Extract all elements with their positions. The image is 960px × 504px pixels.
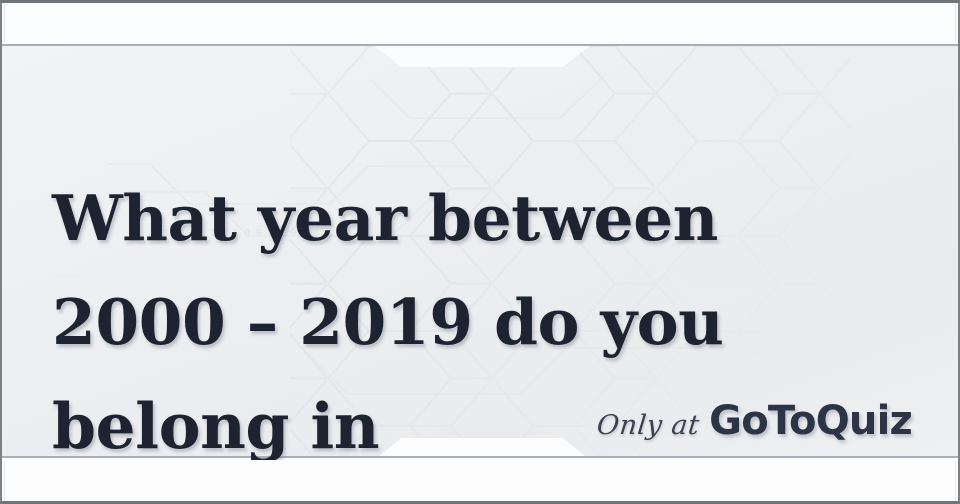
top-trapezoid-notch (373, 46, 591, 67)
quiz-title-banner: 010011010011010 0100011010011110100 What… (0, 46, 960, 460)
site-branding[interactable]: Only at GoToQuiz (597, 398, 912, 444)
bottom-white-bar (0, 456, 960, 504)
top-white-bar (0, 2, 960, 46)
only-at-label: Only at (595, 410, 701, 441)
gotoquiz-logo-text[interactable]: GoToQuiz (709, 398, 912, 444)
top-white-bar-inner (4, 4, 956, 42)
quiz-banner-page: 010011010011010 0100011010011110100 What… (0, 0, 960, 504)
bottom-white-bar-inner (4, 461, 956, 501)
quiz-title-line-2: 2000 – 2019 do you (52, 270, 752, 374)
quiz-title-line-1: What year between (52, 166, 752, 270)
